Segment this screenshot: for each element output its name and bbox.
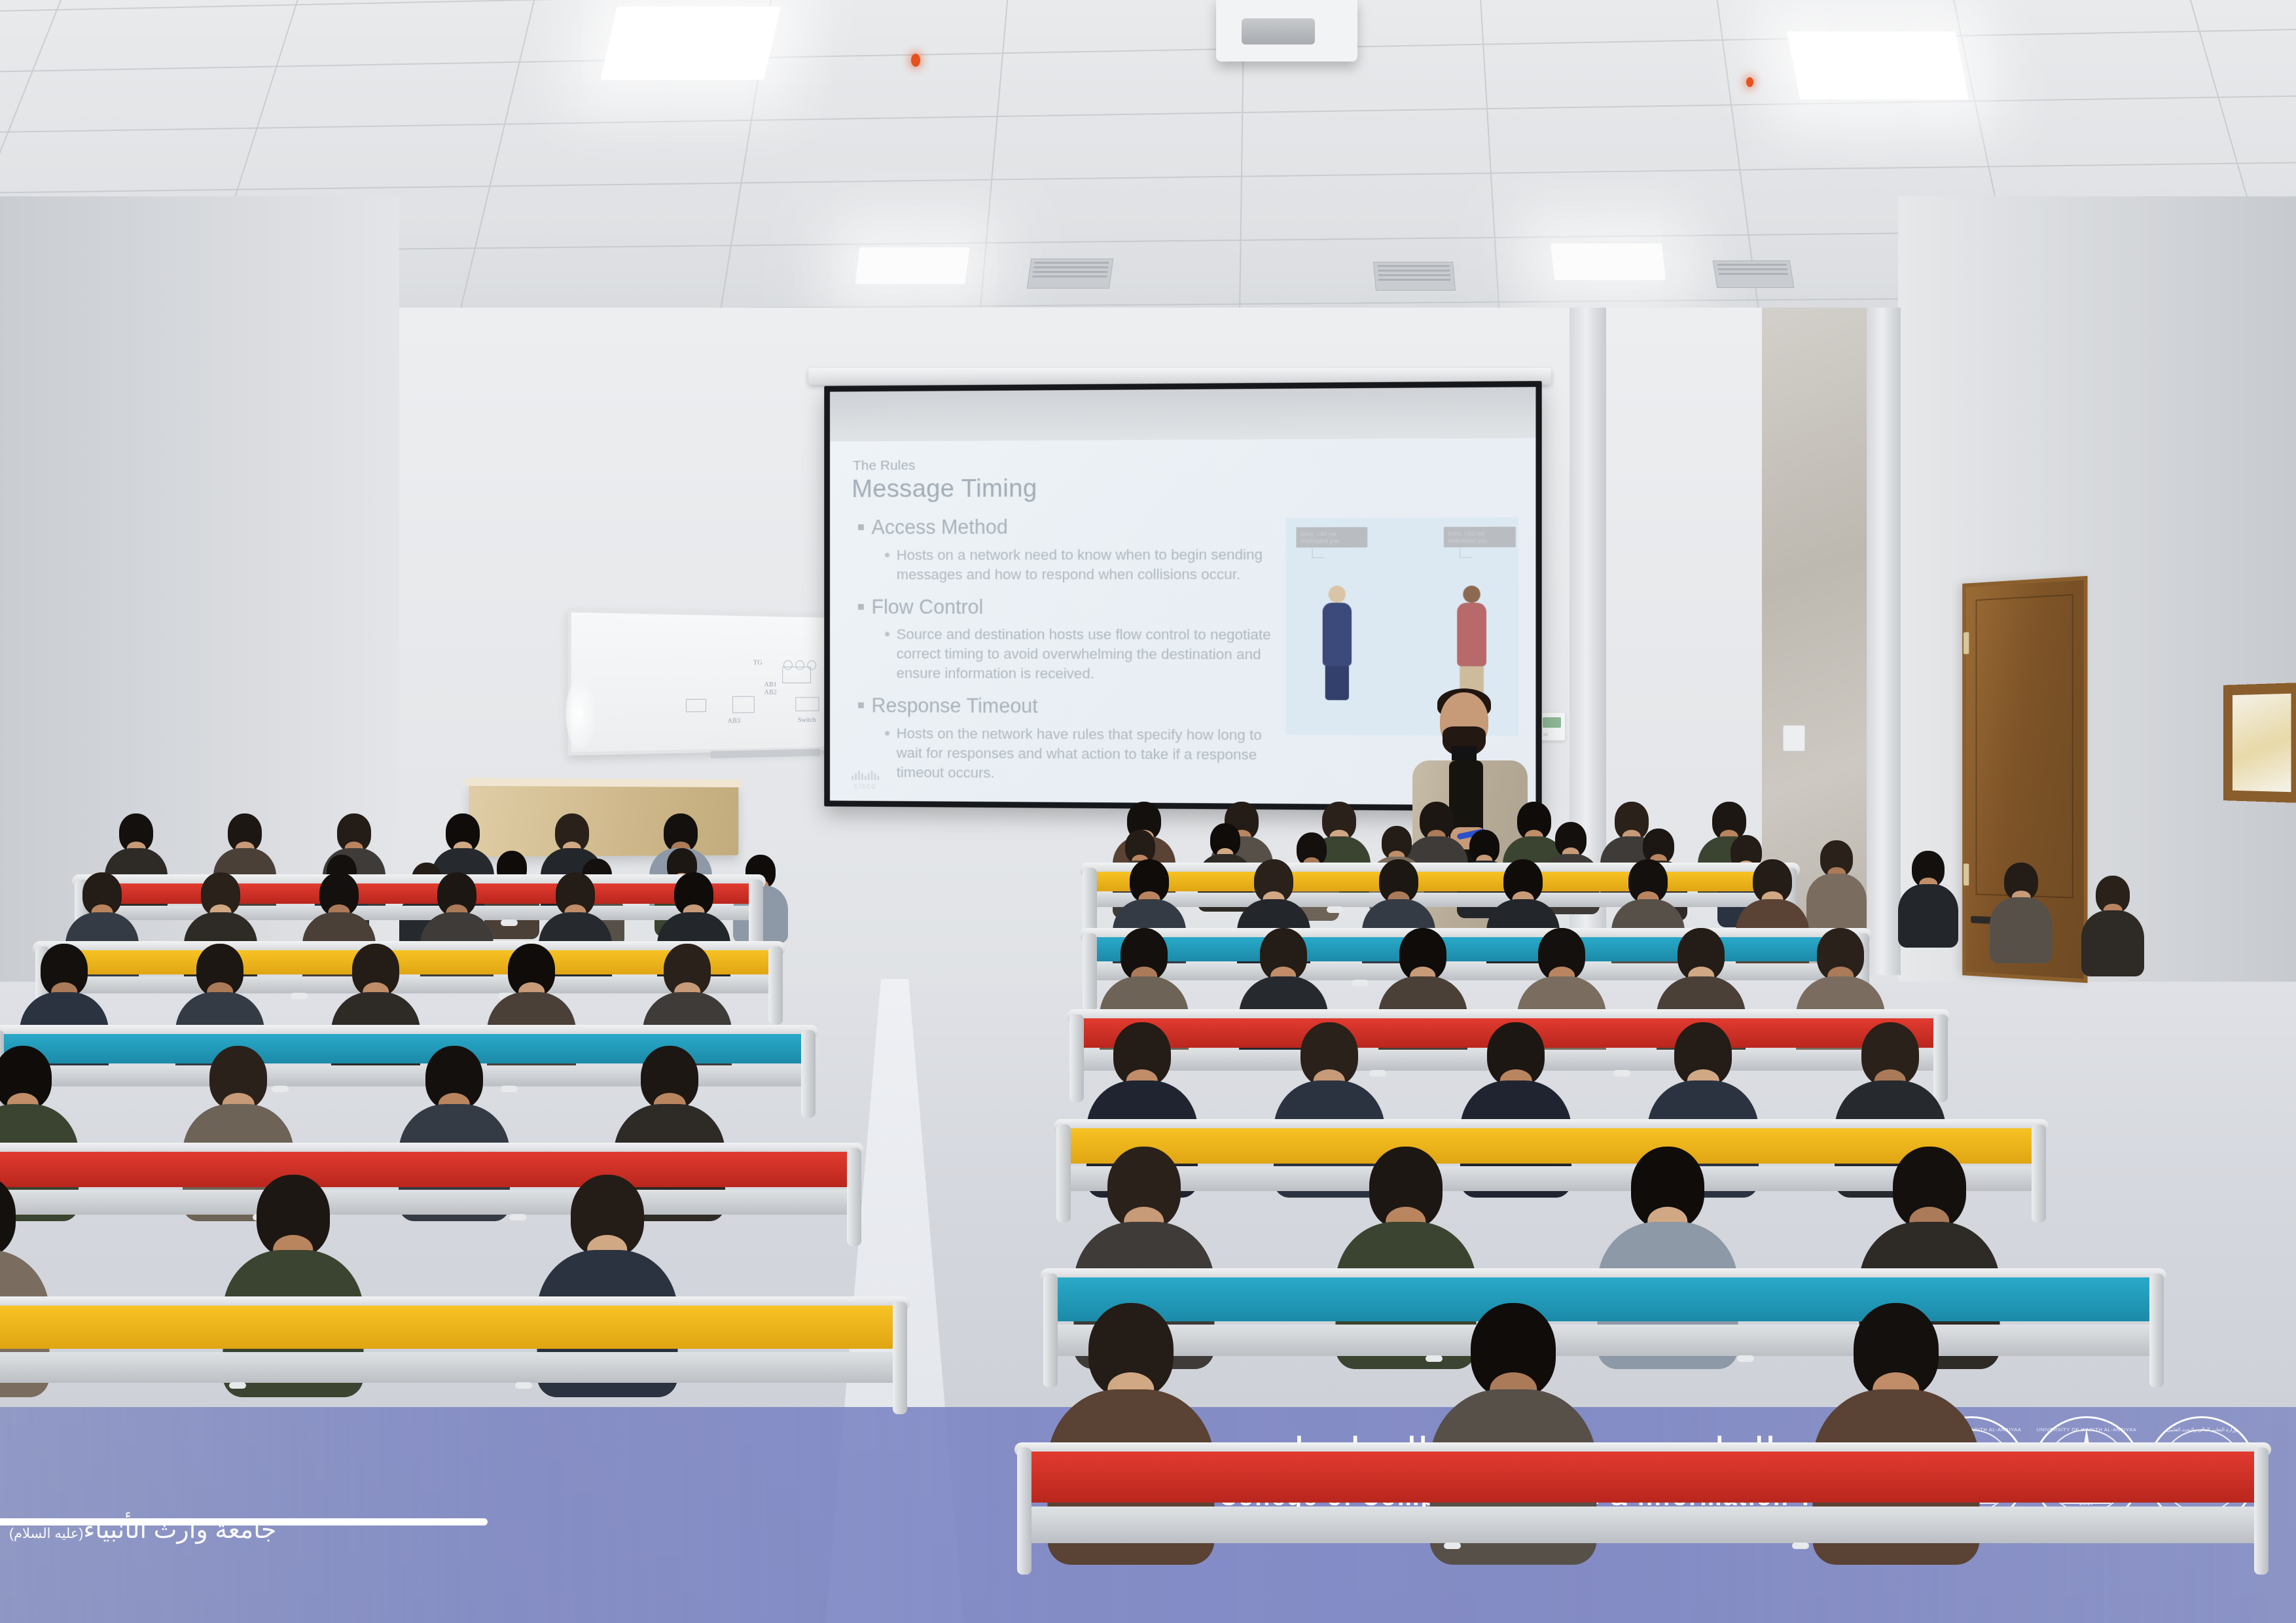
door-panel-inset [1976,594,2073,899]
slide-eyebrow: The Rules [853,455,1513,474]
watermark-university-arabic: جامعة وارث الأنبياء(عليه السلام) [9,1515,276,1544]
whiteboard-sketch-box [795,697,819,711]
whiteboard-sketch-circle [807,660,816,670]
projector-lens-icon [1242,18,1315,45]
bench-backrest [1047,1277,2160,1321]
bench-leg [1017,1448,1031,1575]
student [1898,851,1958,944]
student-torso [1990,897,2053,963]
smoke-detector-led-icon [911,54,920,67]
bench-leg [1056,1124,1071,1222]
student [1806,840,1867,933]
door-hinge [1964,632,1969,654]
bullet-detail-text: Hosts on the network have rules that spe… [897,724,1272,784]
person-body-icon [1323,603,1352,666]
watermark-suffix-text: (عليه السلام) [9,1526,83,1541]
corner-pillar [1867,308,1901,975]
bench-leg [2254,1448,2269,1575]
ceiling-grid-line [0,160,2296,195]
bullet-square-icon [858,702,864,708]
bench-backrest [1021,1452,2265,1503]
bench-hook-icon [1737,1355,1754,1362]
bench-desk [1047,1277,2160,1356]
air-vent [1027,259,1113,289]
ac-lcd-display [1543,717,1561,728]
bench-desk [1021,1452,2265,1543]
ceiling-light-panel [600,7,781,80]
bench-desk [1086,937,1865,980]
bench-seat [0,1190,857,1215]
whiteboard-sketch-circle [783,660,793,670]
whiteboard-eraser-smudge [565,678,596,750]
air-vent [1713,260,1795,288]
whiteboard-annotation: AB1 [764,681,777,688]
bench-hook-icon [509,1214,526,1221]
bullet-dot-icon [885,731,889,736]
student-head [0,1175,16,1257]
bench-hook-icon [1327,906,1344,913]
bench-hook-icon [1613,1070,1630,1077]
bench-hook-icon [291,993,308,999]
bench-backrest [1086,937,1865,961]
slide-bullet-detail: Hosts on the network have rules that spe… [885,724,1272,785]
slide-bullet-heading: Flow Control [858,595,1272,620]
cisco-bars-icon [852,770,879,780]
bullet-square-icon [858,524,864,530]
bench-leg [847,1148,861,1246]
smoke-detector-led-icon [1746,77,1753,87]
ac-button[interactable] [1543,733,1548,736]
student [1990,863,2053,959]
bench-leg [2149,1274,2164,1387]
person-head-icon [1463,586,1480,603]
slide-bullet-detail: Hosts on a network need to know when to … [885,545,1272,584]
bench-desk [1086,872,1793,907]
bullet-detail-text: Source and destination hosts use flow co… [897,625,1272,685]
bullet-dot-icon [885,632,889,637]
bench-hook-icon [229,1382,246,1389]
lecture-hall-photo: TG AB1 AB2 AB3 Switch The Rules Message … [0,0,2296,1623]
slide-bullet-heading: Response Timeout [858,694,1272,721]
slide-bullet-heading: Access Method [858,514,1272,541]
bench-desk [0,1306,903,1383]
bench-leg [2032,1124,2046,1222]
illustration-person-right [1457,586,1486,701]
whiteboard-annotation: TG [753,659,762,667]
bench-leg [893,1302,907,1414]
screen-top-blank-area [830,387,1535,446]
framed-wall-picture [2223,683,2296,803]
whiteboard-sketch-box [686,699,706,712]
door-hinge [1964,864,1969,886]
bench-backrest [0,1152,857,1187]
watermark-main-text: جامعة وارث الأنبياء [83,1516,276,1544]
bench-hook-icon [515,1382,532,1389]
whiteboard-annotation: AB2 [764,688,777,696]
air-vent [1373,262,1456,291]
slide-bullet-detail: Source and destination hosts use flow co… [885,625,1272,685]
whiteboard-annotation: AB3 [727,717,740,724]
slide-bullet-list: Access Method Hosts on a network need to… [852,514,1272,785]
illustration-person-left [1323,586,1352,700]
framed-picture-image [2233,694,2291,792]
ceiling-projector [1216,0,1357,62]
wall-socket[interactable] [1783,725,1805,751]
bullet-heading-text: Access Method [872,515,1008,541]
ceiling-light-panel [1551,243,1666,280]
cisco-wordmark: cisco [852,781,879,791]
bench-leg [1083,933,1097,1012]
bench-leg [1069,1014,1084,1102]
bench-hook-icon [1352,980,1369,986]
ac-control-panel[interactable] [1538,712,1566,741]
slide-title: Message Timing [852,473,1513,504]
ceiling-light-panel [855,247,970,284]
whiteboard: TG AB1 AB2 AB3 Switch [567,609,832,755]
student [2081,876,2144,972]
ceiling-light-panel [1787,31,1969,99]
bullet-heading-text: Response Timeout [872,694,1038,719]
bullet-detail-text: Hosts on a network need to know when to … [897,545,1272,584]
bench-hook-icon [501,919,518,926]
bullet-square-icon [858,603,864,609]
bench-leg [768,946,783,1025]
student-torso [2081,910,2144,976]
bench-backrest [1086,872,1793,891]
bench-seat [1086,893,1793,907]
cisco-logo-icon: cisco [852,770,879,791]
person-body-icon [1457,603,1486,666]
bullet-heading-text: Flow Control [872,595,984,620]
bench-backrest [0,1306,903,1349]
whiteboard-annotation: Switch [798,716,816,724]
classroom-scene: TG AB1 AB2 AB3 Switch The Rules Message … [0,0,2296,1623]
bullet-dot-icon [885,552,889,557]
bench-leg [801,1030,816,1118]
podium-top-surface [465,777,742,787]
whiteboard-sketch-circle [795,660,804,670]
bench-seat [1047,1325,2160,1356]
person-head-icon [1329,586,1346,603]
bench-seat [1086,963,1865,980]
person-legs-icon [1325,666,1349,700]
bench-seat [1021,1507,2265,1543]
whiteboard-sketch-box [732,696,755,713]
bench-desk [0,1152,857,1215]
speech-bubble-left: Sorry, I did not understand you. [1296,527,1367,548]
student-torso [1898,884,1958,948]
bench-hook-icon [1792,1543,1809,1549]
bench-seat [0,1352,903,1383]
ceiling-grid-line [0,0,2296,14]
speech-bubble-right: Sorry, I did not understand you. [1444,527,1516,548]
bench-hook-icon [1444,1543,1461,1549]
